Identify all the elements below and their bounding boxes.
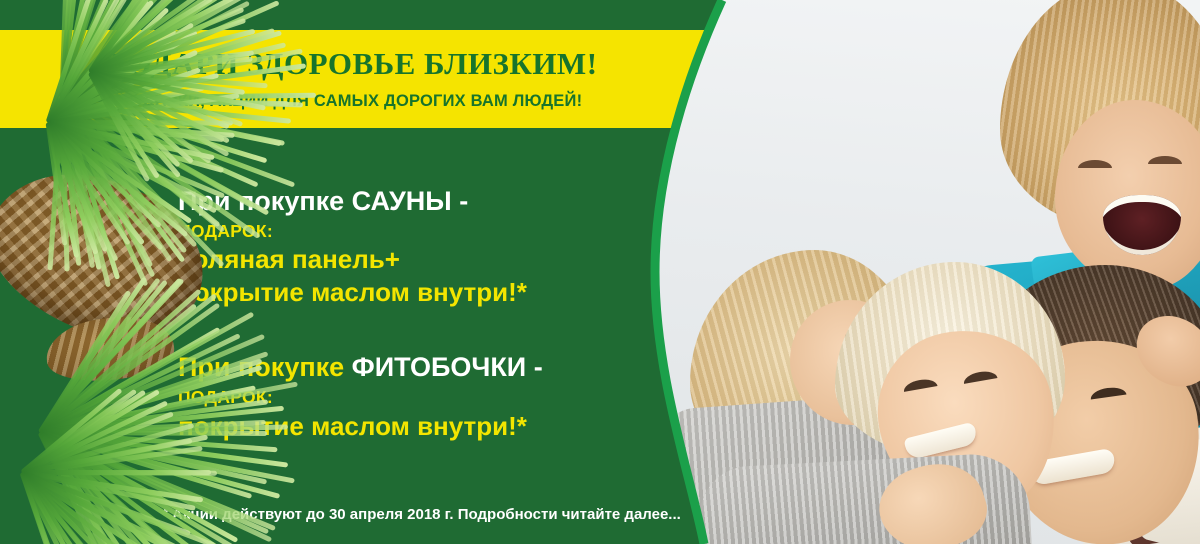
offer-phytobarrel-product: ФИТОБОЧКИ [352,352,527,382]
offer-phytobarrel-condition-suffix: - [526,352,543,382]
promo-banner: ПОДАРИ ЗДОРОВЬЕ БЛИЗКИМ! ПОДАРКИ, АКЦИИ … [0,0,1200,544]
offer-sauna-product: САУНЫ [352,186,452,216]
offer-sauna-condition-suffix: - [452,186,469,216]
pine-decoration [0,0,330,544]
